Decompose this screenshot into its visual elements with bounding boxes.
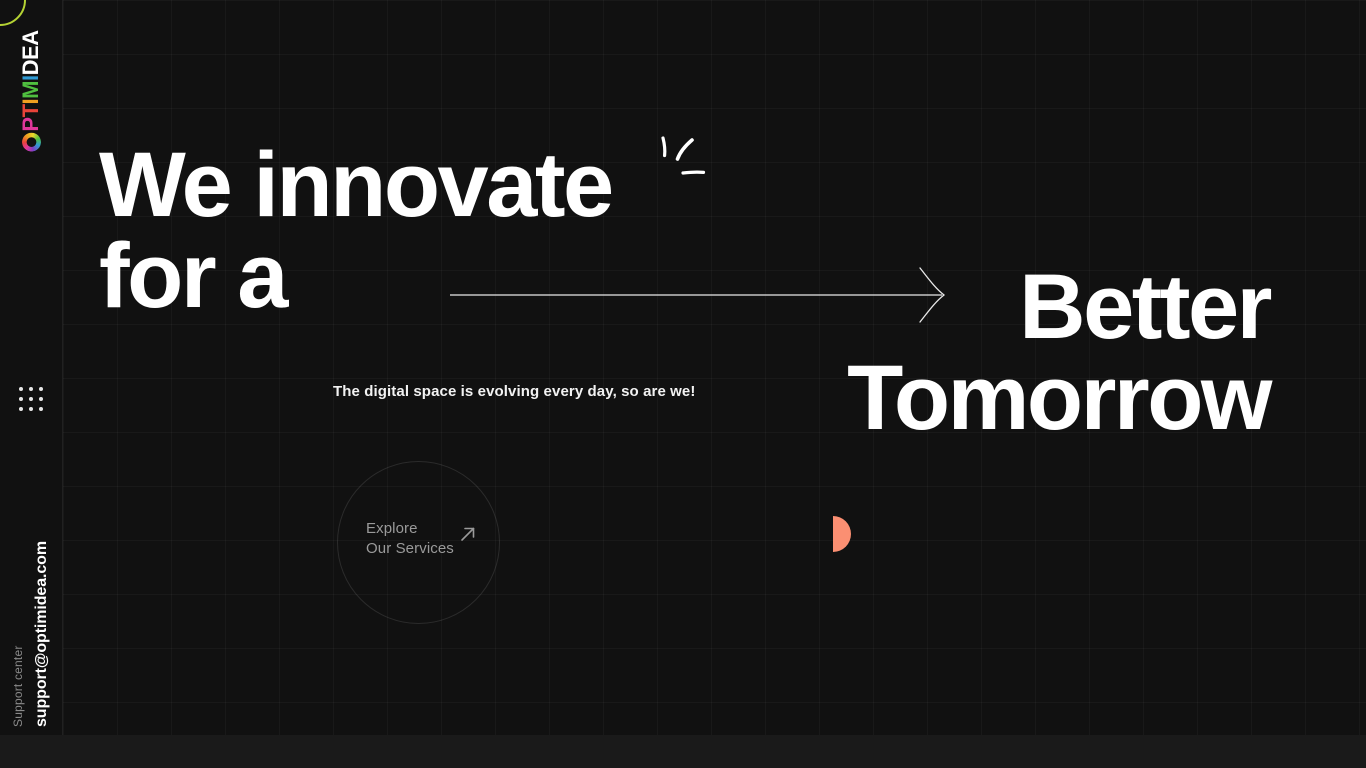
lime-circle-arc-decor [0, 0, 26, 26]
bottom-band [0, 735, 1366, 768]
dot [39, 387, 43, 391]
dot [19, 397, 23, 401]
logo-letter: P [20, 117, 42, 131]
support-block: Support center support@optimidea.com [0, 467, 63, 727]
long-right-arrow-icon [448, 266, 948, 324]
hero-subtitle: The digital space is evolving every day,… [333, 380, 705, 405]
sparkle-icon [652, 130, 716, 192]
support-email-link[interactable]: support@optimidea.com [34, 541, 50, 727]
left-rail: PTIMIDEA Support center support@optimide… [0, 0, 63, 735]
dot [39, 407, 43, 411]
logo-letter: I [20, 99, 42, 105]
logo-letter: M [20, 81, 42, 99]
dot [39, 397, 43, 401]
dot [19, 407, 23, 411]
explore-services-button[interactable]: Explore Our Services [337, 461, 500, 624]
logo-letter: A [20, 30, 42, 45]
logo-letter: T [20, 104, 42, 117]
support-center-label: Support center [12, 645, 24, 727]
logo-letter-o-icon [22, 133, 41, 152]
dot [19, 387, 23, 391]
logo-letter: E [20, 46, 42, 60]
logo-letter: I [20, 75, 42, 81]
brand-logo-letters: PTIMIDEA [20, 30, 42, 151]
brand-logo[interactable]: PTIMIDEA [16, 28, 46, 154]
dot [29, 397, 33, 401]
dot [29, 407, 33, 411]
logo-letter: D [20, 60, 42, 75]
explore-services-label: Explore Our Services [366, 519, 454, 559]
dot [29, 387, 33, 391]
arrow-up-right-icon [459, 525, 477, 543]
hero-page: PTIMIDEA Support center support@optimide… [0, 0, 1366, 768]
coral-half-circle-decor [833, 516, 851, 552]
grid-dots-icon[interactable] [18, 386, 44, 412]
